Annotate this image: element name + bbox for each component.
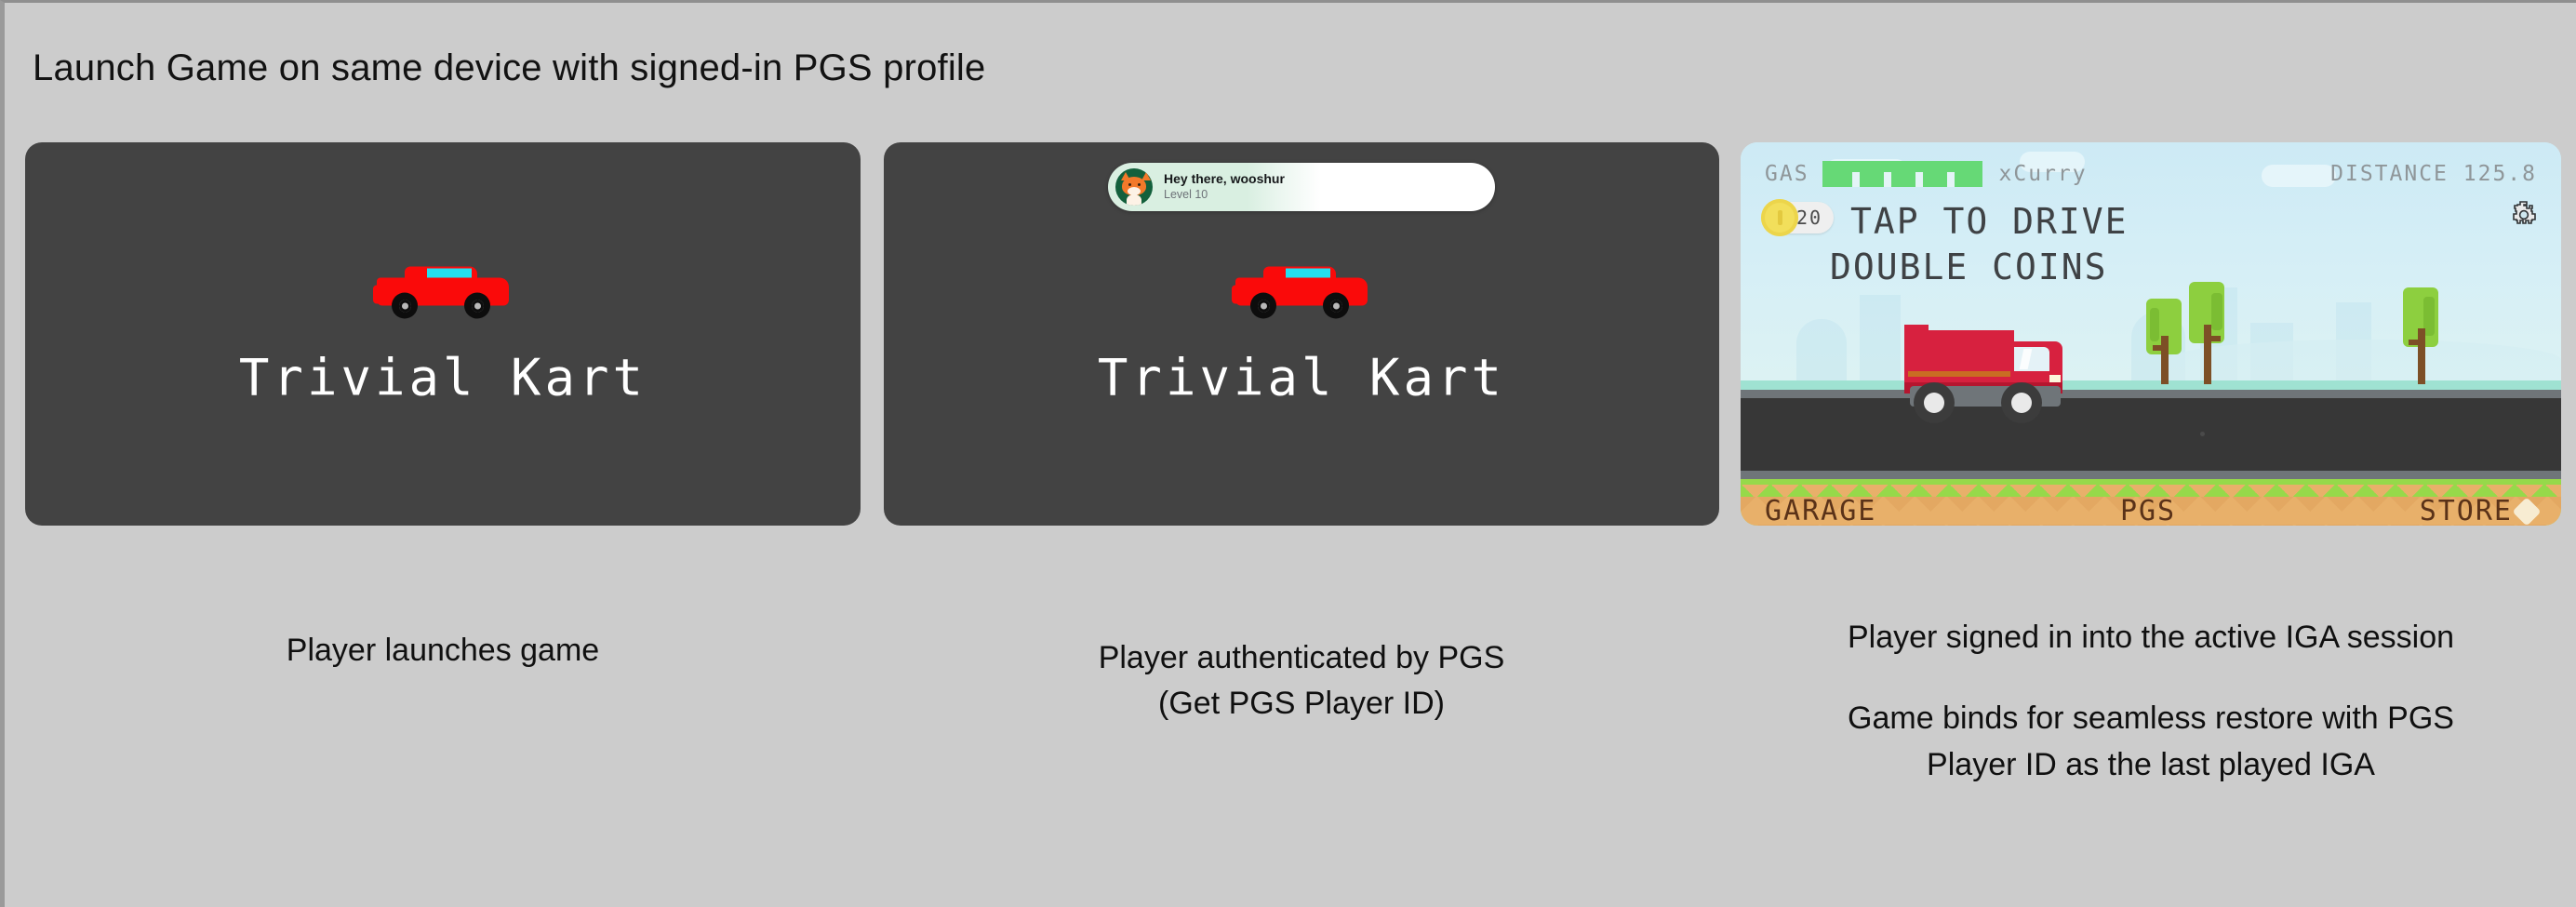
caption-line: Player launches game xyxy=(25,628,861,674)
splash-content: Trivial Kart xyxy=(884,261,1719,407)
panel-game-authenticated: Hey there, wooshur Level 10 Trivial Kart xyxy=(884,142,1719,526)
nav-item-pgs[interactable]: PGS xyxy=(2120,495,2176,526)
panel-game-launch: Trivial Kart xyxy=(25,142,861,526)
pgs-level: Level 10 xyxy=(1164,188,1285,203)
game-title: Trivial Kart xyxy=(239,349,647,407)
caption-line: Player ID as the last played IGA xyxy=(1741,742,2561,788)
distance-readout: DISTANCE 125.8 xyxy=(2330,162,2537,186)
sparkle-icon xyxy=(2512,497,2541,526)
pixel-truck-icon xyxy=(1901,325,2083,421)
gas-bar xyxy=(1822,161,1982,187)
nav-item-store[interactable]: STORE xyxy=(2420,495,2513,526)
caption-line: Player signed in into the active IGA ses… xyxy=(1741,615,2561,660)
pixel-tree-icon xyxy=(2403,287,2442,384)
panel-game-session: GARAGE PGS STORE GAS xCurry DISTANCE 125… xyxy=(1741,142,2561,526)
pgs-greeting: Hey there, wooshur xyxy=(1164,171,1285,188)
road-edge-top xyxy=(1741,390,2561,398)
road-edge-bottom xyxy=(1741,471,2561,479)
gas-label: GAS xyxy=(1765,162,1809,186)
caption-line: (Get PGS Player ID) xyxy=(884,681,1719,727)
splash-content: Trivial Kart xyxy=(25,261,861,407)
caption-panel-2: Player authenticated by PGS (Get PGS Pla… xyxy=(884,635,1719,727)
tap-to-drive-prompt[interactable]: TAP TO DRIVE xyxy=(1850,200,2129,245)
caption-line: Game binds for seamless restore with PGS xyxy=(1741,696,2561,741)
pgs-toast-text: Hey there, wooshur Level 10 xyxy=(1164,171,1285,202)
gear-icon[interactable] xyxy=(2509,200,2539,230)
caption-line: Player authenticated by PGS xyxy=(884,635,1719,681)
caption-block: Player signed in into the active IGA ses… xyxy=(1741,615,2561,660)
player-name: xCurry xyxy=(1999,162,2088,186)
bottom-nav-band: GARAGE PGS STORE xyxy=(1741,497,2561,526)
pixel-tree-icon xyxy=(2146,299,2185,384)
caption-panel-1: Player launches game xyxy=(25,628,861,674)
double-coins-label: DOUBLE COINS xyxy=(1830,247,2108,287)
road xyxy=(1741,398,2561,471)
coin-icon xyxy=(1761,199,1798,236)
bottom-nav: GARAGE PGS STORE xyxy=(1741,497,2561,526)
coin-count: 20 xyxy=(1796,207,1822,229)
nav-item-garage[interactable]: GARAGE xyxy=(1765,495,1876,526)
fox-avatar-icon xyxy=(1115,168,1153,206)
game-hud: GAS xCurry DISTANCE 125.8 xyxy=(1741,161,2561,187)
pixel-tree-icon xyxy=(2189,282,2228,384)
caption-block: Game binds for seamless restore with PGS… xyxy=(1741,696,2561,788)
game-title: Trivial Kart xyxy=(1098,349,1505,407)
panels-row: Trivial Kart Hey there, wooshur Level 10 xyxy=(5,142,2576,533)
page-title: Launch Game on same device with signed-i… xyxy=(33,47,985,89)
pixel-car-icon xyxy=(1232,261,1371,325)
coin-counter: 20 xyxy=(1765,202,1834,233)
pixel-car-icon xyxy=(373,261,513,325)
pgs-sign-in-toast[interactable]: Hey there, wooshur Level 10 xyxy=(1108,163,1495,211)
caption-panel-3: Player signed in into the active IGA ses… xyxy=(1741,615,2561,788)
